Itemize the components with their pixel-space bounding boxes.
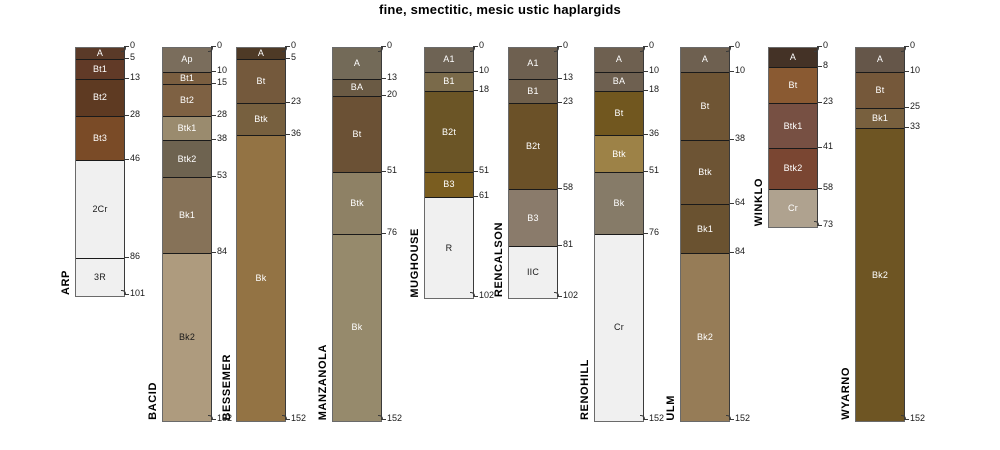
axis-spine [473,47,474,297]
tick-mark [124,159,129,160]
tick-mark [817,66,822,67]
horizon-column: A1B1B2tB3R [424,47,474,299]
horizon-label: Bt [615,109,624,118]
tick-label: 84 [735,247,745,256]
horizon-a[interactable]: A [856,48,904,73]
tick-label: 58 [823,183,833,192]
horizon-b3[interactable]: B3 [425,173,473,198]
tick-label: 51 [649,166,659,175]
horizon-label: Bt [876,86,885,95]
horizon-bt2[interactable]: Bt2 [76,80,124,117]
horizon-label: Btk2 [178,155,197,164]
tick-label: 28 [130,110,140,119]
horizon-label: Bt1 [93,65,107,74]
horizon-label: Bk2 [179,333,195,342]
horizon-label: B1 [443,77,454,86]
tick-label: 10 [910,66,920,75]
tick-label: 8 [823,61,828,70]
horizon-a1[interactable]: A1 [425,48,473,73]
horizon-bt[interactable]: Bt [237,60,285,104]
horizon-label: Bt2 [180,96,194,105]
tick-label: 10 [217,66,227,75]
tick-mark [124,294,129,295]
tick-mark [285,58,290,59]
horizon-bt[interactable]: Bt [681,73,729,142]
tick-label: 0 [735,41,740,50]
horizon-bk1[interactable]: Bk1 [856,109,904,129]
horizon-label: B3 [527,214,538,223]
tick-mark [211,139,216,140]
horizon-btk2[interactable]: Btk2 [769,149,817,191]
horizon-bk[interactable]: Bk [237,136,285,421]
horizon-bk[interactable]: Bk [595,173,643,234]
horizon-b2t[interactable]: B2t [425,92,473,173]
tick-mark [285,419,290,420]
tick-label: 13 [130,73,140,82]
horizon-label: Bk [352,323,363,332]
horizon-bt[interactable]: Bt [595,92,643,136]
tick-mark [643,171,648,172]
horizon-label: Bk2 [697,333,713,342]
tick-mark [904,127,909,128]
horizon-a[interactable]: A [681,48,729,73]
horizon-label: Bt [701,102,710,111]
axis-cap-top [121,47,126,52]
tick-mark [904,46,909,47]
tick-label: 64 [735,198,745,207]
horizon-label: Bt [789,81,798,90]
axis-cap-top [726,47,731,52]
horizon-ap[interactable]: Ap [163,48,211,73]
tick-label: 0 [649,41,654,50]
tick-label: 23 [291,97,301,106]
tick-mark [473,90,478,91]
horizon-label: A [790,53,796,62]
tick-mark [473,296,478,297]
tick-mark [729,419,734,420]
tick-label: 25 [910,102,920,111]
pedon-name-label: RENOHILL [580,359,591,420]
horizon-label: B1 [527,87,538,96]
tick-mark [124,78,129,79]
horizon-label: A1 [443,55,454,64]
tick-label: 61 [479,191,489,200]
axis-cap-top [282,47,287,52]
horizon-label: B2t [442,128,456,137]
tick-mark [643,90,648,91]
pedon-name-label: ULM [666,395,677,421]
tick-label: 38 [217,134,227,143]
horizon-label: Btk [698,168,712,177]
tick-label: 18 [649,85,659,94]
tick-mark [124,46,129,47]
tick-mark [381,419,386,420]
horizon-bt[interactable]: Bt [856,73,904,110]
tick-mark [381,233,386,234]
horizon-bt2[interactable]: Bt2 [163,85,211,117]
tick-mark [643,71,648,72]
tick-mark [729,203,734,204]
tick-label: 10 [735,66,745,75]
tick-label: 20 [387,90,397,99]
tick-label: 23 [823,97,833,106]
tick-mark [557,245,562,246]
tick-mark [557,296,562,297]
tick-mark [817,46,822,47]
axis-spine [211,47,212,420]
pedon-name-label: MANZANOLA [318,344,329,420]
depth-axis: 0102533152 [904,47,950,420]
tick-mark [643,134,648,135]
tick-label: 152 [735,414,750,423]
tick-mark [643,419,648,420]
horizon-bt[interactable]: Bt [333,97,381,173]
tick-mark [643,233,648,234]
tick-mark [729,71,734,72]
horizon-label: R [446,244,453,253]
horizon-label: Bk1 [872,114,888,123]
tick-label: 41 [823,142,833,151]
horizon-ba[interactable]: BA [595,73,643,93]
tick-label: 5 [130,53,135,62]
horizon-cr[interactable]: Cr [595,235,643,422]
tick-mark [817,102,822,103]
axis-spine [817,47,818,226]
horizon-label: Btk2 [784,164,803,173]
horizon-a1[interactable]: A1 [509,48,557,80]
axis-cap-top [814,47,819,52]
tick-mark [557,188,562,189]
tick-mark [381,171,386,172]
tick-label: 51 [479,166,489,175]
tick-label: 0 [387,41,392,50]
horizon-label: Btk [612,150,626,159]
horizon-a[interactable]: A [237,48,285,60]
tick-label: 18 [479,85,489,94]
tick-label: 76 [387,228,397,237]
tick-mark [211,252,216,253]
tick-label: 0 [823,41,828,50]
horizon-btk1[interactable]: Btk1 [163,117,211,142]
horizon-bt[interactable]: Bt [769,68,817,105]
tick-mark [729,46,734,47]
tick-mark [211,176,216,177]
horizon-b3[interactable]: B3 [509,190,557,246]
horizon-column: ABABtBtkBk [332,47,382,422]
horizon-column: ABt1Bt2Bt32Cr3R [75,47,125,297]
horizon-bk2[interactable]: Bk2 [681,254,729,421]
horizon-column: ABtBtkBk1Bk2 [680,47,730,422]
tick-label: 0 [563,41,568,50]
horizon-label: 3R [94,273,106,282]
horizon-label: Bt3 [93,134,107,143]
tick-mark [817,225,822,226]
axis-cap-top [901,47,906,52]
horizon-label: Cr [614,323,624,332]
horizon-bt1[interactable]: Bt1 [163,73,211,85]
horizon-column: ABtBtk1Btk2Cr [768,47,818,228]
axis-cap-top [378,47,383,52]
horizon-label: B2t [526,142,540,151]
tick-mark [904,419,909,420]
tick-label: 152 [649,414,664,423]
tick-label: 51 [387,166,397,175]
horizon-btk[interactable]: Btk [681,141,729,205]
tick-label: 28 [217,110,227,119]
tick-label: 36 [291,129,301,138]
horizon-btk[interactable]: Btk [237,104,285,136]
horizon-label: Bt [257,77,266,86]
horizon-column: A1B1B2tB3IIC [508,47,558,299]
tick-label: 73 [823,220,833,229]
axis-cap-top [640,47,645,52]
tick-label: 53 [217,171,227,180]
tick-mark [729,252,734,253]
axis-spine [557,47,558,297]
horizon-label: Btk1 [784,122,803,131]
horizon-label: Btk [350,199,364,208]
tick-mark [817,147,822,148]
tick-mark [381,95,386,96]
horizon-column: ABABtBtkBkCr [594,47,644,422]
horizon-label: Btk [254,115,268,124]
tick-label: 46 [130,154,140,163]
axis-spine [381,47,382,420]
horizon-label: A1 [527,59,538,68]
horizon-btk1[interactable]: Btk1 [769,104,817,148]
horizon-a[interactable]: A [769,48,817,68]
pedon-name-label: ARP [61,270,72,295]
tick-mark [211,71,216,72]
pedon-name-label: WINKLO [754,178,765,226]
tick-label: 33 [910,122,920,131]
tick-mark [124,115,129,116]
axis-cap-top [554,47,559,52]
tick-label: 152 [387,414,402,423]
horizon-r[interactable]: R [425,198,473,299]
horizon-label: A [702,55,708,64]
horizon-bk2[interactable]: Bk2 [856,129,904,421]
horizon-bk2[interactable]: Bk2 [163,254,211,421]
tick-label: 13 [563,73,573,82]
axis-cap-top [470,47,475,52]
tick-mark [381,46,386,47]
pedon-name-label: BESSEMER [222,354,233,421]
horizon-column: ABtBtkBk [236,47,286,422]
horizon-bk1[interactable]: Bk1 [681,205,729,254]
tick-mark [557,78,562,79]
tick-label: 84 [217,247,227,256]
horizon-label: Ap [181,55,192,64]
tick-mark [124,58,129,59]
tick-mark [381,78,386,79]
axis-spine [643,47,644,420]
axis-spine [729,47,730,420]
horizon-label: Btk1 [178,124,197,133]
tick-label: 0 [130,41,135,50]
tick-mark [211,46,216,47]
horizon-label: Bk1 [179,211,195,220]
tick-label: 10 [649,66,659,75]
tick-label: 101 [130,289,145,298]
horizon-label: A [97,49,103,58]
tick-label: 5 [291,53,296,62]
horizon-label: Bk2 [872,271,888,280]
tick-label: 81 [563,240,573,249]
tick-label: 36 [649,129,659,138]
horizon-bt3[interactable]: Bt3 [76,117,124,161]
tick-mark [729,139,734,140]
tick-mark [473,171,478,172]
tick-label: 0 [910,41,915,50]
horizon-btk[interactable]: Btk [595,136,643,173]
tick-mark [285,134,290,135]
tick-mark [285,46,290,47]
tick-label: 23 [563,97,573,106]
pedon-name-label: MUGHOUSE [410,228,421,298]
horizon-label: 2Cr [92,205,107,214]
horizon-bk1[interactable]: Bk1 [163,178,211,254]
horizon-label: BA [613,77,625,86]
tick-mark [211,115,216,116]
tick-mark [817,188,822,189]
tick-label: 58 [563,183,573,192]
horizon-label: Bt1 [180,74,194,83]
horizon-cr[interactable]: Cr [769,190,817,227]
horizon-label: A [354,59,360,68]
tick-mark [643,46,648,47]
pedon-name-label: RENCALSON [494,222,505,297]
horizon-bk[interactable]: Bk [333,235,381,422]
horizon-a[interactable]: A [595,48,643,73]
tick-label: 152 [291,414,306,423]
tick-mark [557,102,562,103]
tick-mark [904,71,909,72]
tick-label: 86 [130,252,140,261]
horizon-label: Bk1 [697,225,713,234]
tick-label: 152 [910,414,925,423]
tick-label: 76 [649,228,659,237]
pedon-name-label: WYARNO [841,367,852,420]
horizon-label: Cr [788,204,798,213]
tick-label: 15 [217,78,227,87]
horizon-a[interactable]: A [76,48,124,60]
tick-mark [904,107,909,108]
tick-mark [211,83,216,84]
horizon-btk[interactable]: Btk [333,173,381,234]
horizon-label: Bt2 [93,93,107,102]
tick-label: 10 [479,66,489,75]
horizon-label: Bt [353,130,362,139]
horizon-label: BA [351,83,363,92]
tick-mark [473,71,478,72]
horizon-label: A [877,55,883,64]
tick-label: 38 [735,134,745,143]
tick-label: 0 [479,41,484,50]
horizon-ba[interactable]: BA [333,80,381,97]
horizon-btk2[interactable]: Btk2 [163,141,211,178]
horizon-b2t[interactable]: B2t [509,104,557,190]
horizon-a[interactable]: A [333,48,381,80]
tick-mark [285,102,290,103]
tick-label: 0 [217,41,222,50]
horizon-label: B3 [443,180,454,189]
horizon-bt1[interactable]: Bt1 [76,60,124,80]
tick-mark [473,196,478,197]
horizon-iic[interactable]: IIC [509,247,557,299]
tick-mark [473,46,478,47]
tick-mark [211,419,216,420]
horizon-label: A [258,49,264,58]
pedon-name-label: BACID [148,382,159,420]
horizon-label: Bk [256,274,267,283]
tick-mark [124,257,129,258]
page-title: fine, smectitic, mesic ustic haplargids [0,2,1000,17]
horizon-b1[interactable]: B1 [425,73,473,93]
tick-label: 13 [387,73,397,82]
horizon-column: ApBt1Bt2Btk1Btk2Bk1Bk2 [162,47,212,422]
tick-label: 102 [563,291,578,300]
horizon-2cr[interactable]: 2Cr [76,161,124,259]
horizon-column: ABtBk1Bk2 [855,47,905,422]
axis-spine [904,47,905,420]
horizon-3r[interactable]: 3R [76,259,124,296]
tick-label: 102 [479,291,494,300]
horizon-label: A [616,55,622,64]
horizon-label: IIC [527,268,539,277]
axis-cap-top [208,47,213,52]
tick-label: 0 [291,41,296,50]
tick-mark [557,46,562,47]
horizon-label: Bk [614,199,625,208]
horizon-b1[interactable]: B1 [509,80,557,105]
